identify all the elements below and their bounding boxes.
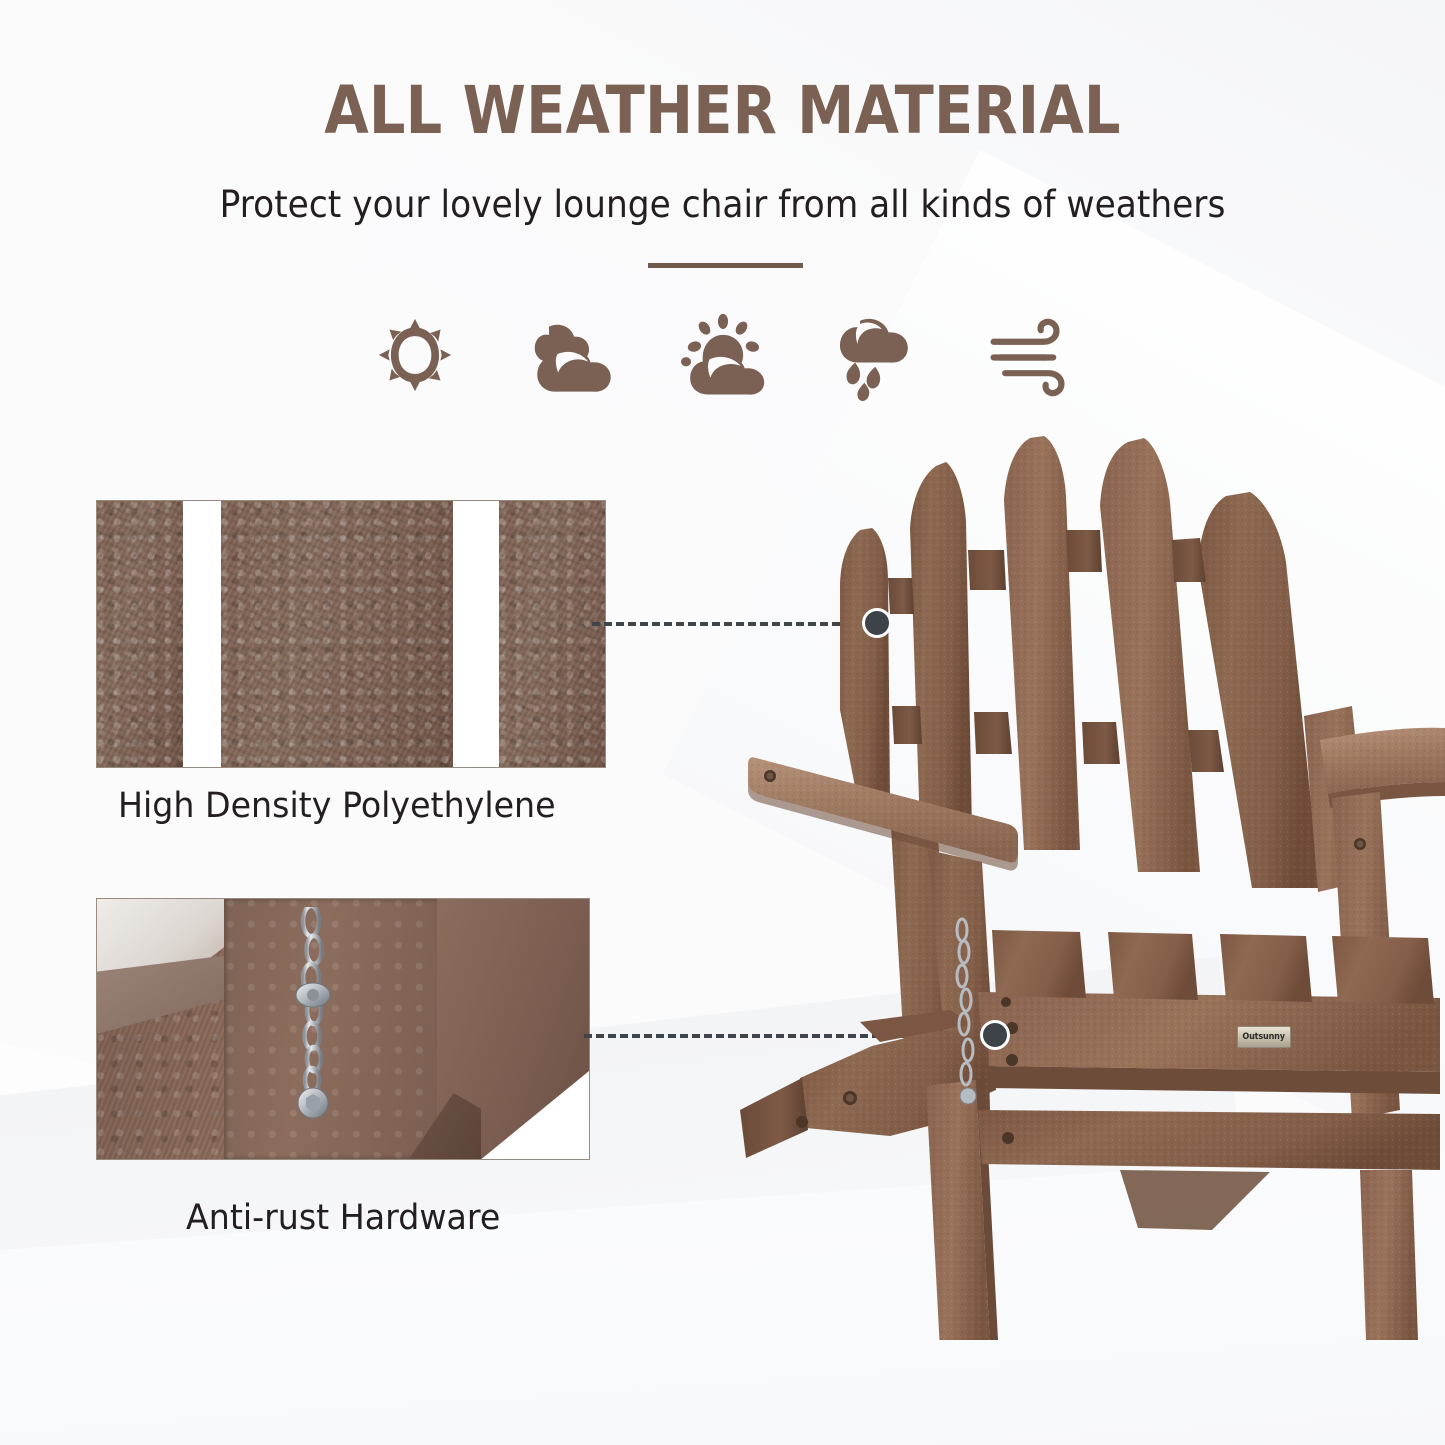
- wind-icon: [980, 307, 1080, 403]
- page-title: ALL WEATHER MATERIAL: [94, 72, 1351, 149]
- feature-caption-hardware: Anti-rust Hardware: [186, 1198, 500, 1238]
- sun-icon: [365, 307, 465, 403]
- chair-seat-slats: [992, 930, 1434, 1004]
- chair-armrest-right: [1320, 728, 1445, 808]
- hdpe-slat-texture: [97, 501, 605, 767]
- chair-seat-rail: [978, 992, 1440, 1094]
- rain-icon: [826, 307, 926, 403]
- feature-image-hdpe: [96, 500, 606, 768]
- title-divider: [648, 263, 803, 268]
- chair-chain-bolt: [960, 1088, 976, 1104]
- infographic-canvas: ALL WEATHER MATERIAL Protect your lovely…: [0, 0, 1445, 1445]
- callout-dot-hdpe: [862, 608, 892, 638]
- cloudy-icon: [519, 307, 619, 403]
- anti-rust-chain: [290, 907, 336, 1097]
- partly-sunny-icon: [673, 307, 773, 403]
- brand-badge: Outsunny: [1237, 1026, 1291, 1048]
- feature-image-hardware: [96, 898, 590, 1160]
- adirondack-chair-image: [740, 410, 1445, 1340]
- callout-dot-hardware: [980, 1020, 1010, 1050]
- page-subtitle: Protect your lovely lounge chair from al…: [51, 183, 1395, 226]
- feature-caption-hdpe: High Density Polyethylene: [118, 786, 556, 826]
- brand-badge-label: Outsunny: [1243, 1032, 1285, 1042]
- chair-under-shadow: [1120, 1170, 1270, 1230]
- weather-icon-row: [365, 305, 1080, 405]
